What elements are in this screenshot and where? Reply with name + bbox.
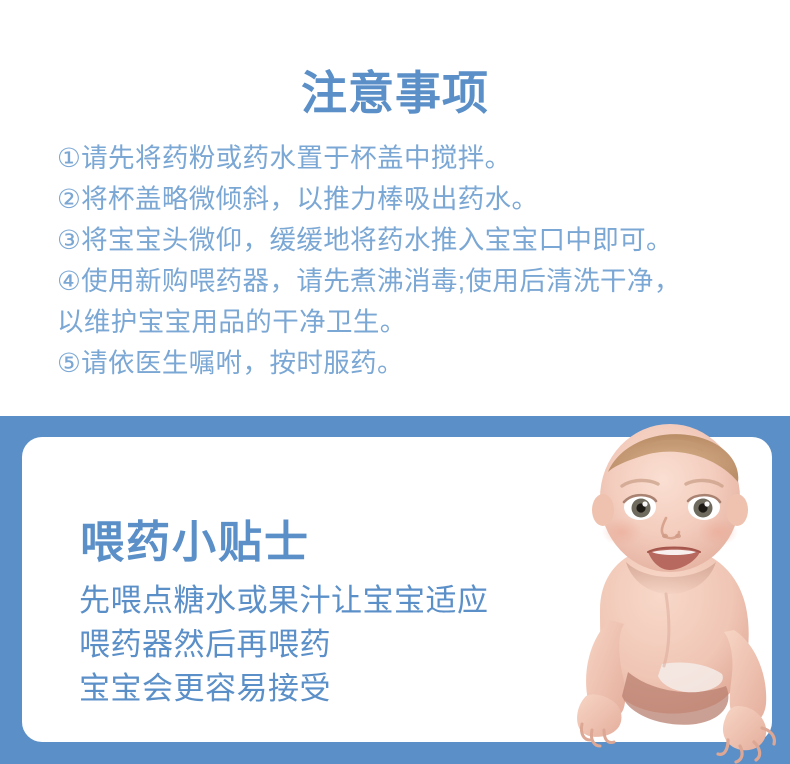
tip-line-3: 宝宝会更容易接受 [79, 667, 599, 711]
notice-line-1: ①请先将药粉或药水置于杯盖中搅拌。 [57, 138, 757, 179]
tip-body: 先喂点糖水或果汁让宝宝适应 喂药器然后再喂药 宝宝会更容易接受 [79, 579, 599, 711]
tip-line-1: 先喂点糖水或果汁让宝宝适应 [79, 579, 599, 623]
tip-panel: 喂药小贴士 先喂点糖水或果汁让宝宝适应 喂药器然后再喂药 宝宝会更容易接受 [0, 416, 790, 764]
notice-section: 注意事项 ①请先将药粉或药水置于杯盖中搅拌。 ②将杯盖略微倾斜，以推力棒吸出药水… [0, 0, 790, 416]
notice-line-5: ⑤请依医生嘱咐，按时服药。 [57, 343, 757, 384]
notice-line-4-continued: 以维护宝宝用品的干净卫生。 [57, 302, 757, 343]
notice-line-2: ②将杯盖略微倾斜，以推力棒吸出药水。 [57, 179, 757, 220]
notice-line-3: ③将宝宝头微仰，缓缓地将药水推入宝宝口中即可。 [57, 220, 757, 261]
notice-line-4: ④使用新购喂药器，请先煮沸消毒;使用后清洗干净， [57, 261, 757, 302]
tip-heading: 喂药小贴士 [80, 519, 310, 567]
notice-list: ①请先将药粉或药水置于杯盖中搅拌。 ②将杯盖略微倾斜，以推力棒吸出药水。 ③将宝… [57, 138, 757, 384]
tip-card: 喂药小贴士 先喂点糖水或果汁让宝宝适应 喂药器然后再喂药 宝宝会更容易接受 [22, 437, 772, 742]
tip-line-2: 喂药器然后再喂药 [79, 623, 599, 667]
page-title: 注意事项 [0, 67, 790, 120]
